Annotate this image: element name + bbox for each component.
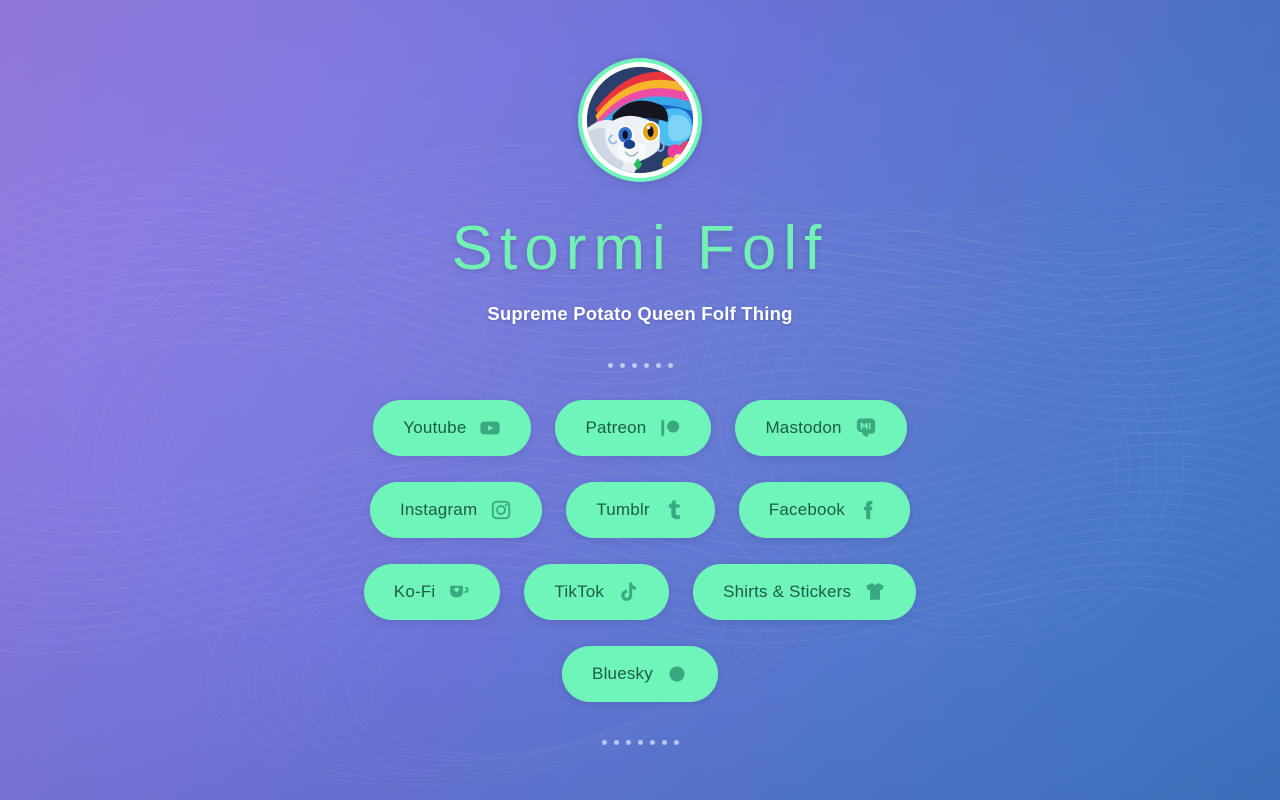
avatar-white-ring bbox=[582, 62, 698, 178]
divider-dot bbox=[656, 363, 661, 368]
divider-dot bbox=[620, 363, 625, 368]
mastodon-icon bbox=[855, 417, 877, 439]
tshirt-icon bbox=[864, 581, 886, 603]
link-button-label: Instagram bbox=[400, 500, 477, 520]
linktree-page: Stormi Folf Supreme Potato Queen Folf Th… bbox=[0, 0, 1280, 800]
link-button-label: Bluesky bbox=[592, 664, 653, 684]
divider-dot bbox=[614, 740, 619, 745]
instagram-icon bbox=[490, 499, 512, 521]
link-button-ko-fi[interactable]: Ko-Fi bbox=[364, 564, 501, 620]
avatar[interactable] bbox=[578, 58, 702, 182]
link-button-label: Patreon bbox=[585, 418, 646, 438]
link-button-label: Facebook bbox=[769, 500, 845, 520]
link-button-label: Ko-Fi bbox=[394, 582, 436, 602]
link-row: Bluesky bbox=[160, 646, 1120, 702]
tiktok-icon bbox=[617, 581, 639, 603]
link-row: InstagramTumblrFacebook bbox=[160, 482, 1120, 538]
link-row: YoutubePatreonMastodon bbox=[160, 400, 1120, 456]
divider-dot bbox=[668, 363, 673, 368]
avatar-image bbox=[587, 67, 693, 173]
link-button-label: Shirts & Stickers bbox=[723, 582, 851, 602]
bluesky-icon bbox=[666, 663, 688, 685]
link-row: Ko-FiTikTokShirts & Stickers bbox=[160, 564, 1120, 620]
divider-dots-bottom bbox=[602, 740, 679, 745]
link-button-youtube[interactable]: Youtube bbox=[373, 400, 531, 456]
divider-dot bbox=[650, 740, 655, 745]
link-button-mastodon[interactable]: Mastodon bbox=[735, 400, 906, 456]
link-button-label: Youtube bbox=[403, 418, 466, 438]
divider-dot bbox=[674, 740, 679, 745]
link-button-bluesky[interactable]: Bluesky bbox=[562, 646, 718, 702]
link-list: YoutubePatreonMastodonInstagramTumblrFac… bbox=[160, 400, 1120, 702]
divider-dot bbox=[602, 740, 607, 745]
divider-dot bbox=[632, 363, 637, 368]
link-button-label: Mastodon bbox=[765, 418, 841, 438]
tumblr-icon bbox=[663, 499, 685, 521]
link-button-label: TikTok bbox=[554, 582, 604, 602]
facebook-icon bbox=[858, 499, 880, 521]
divider-dots-top bbox=[608, 363, 673, 368]
divider-dot bbox=[608, 363, 613, 368]
link-button-shirts-stickers[interactable]: Shirts & Stickers bbox=[693, 564, 916, 620]
divider-dot bbox=[662, 740, 667, 745]
page-title: Stormi Folf bbox=[452, 216, 829, 281]
link-button-label: Tumblr bbox=[596, 500, 649, 520]
divider-dot bbox=[644, 363, 649, 368]
link-button-tumblr[interactable]: Tumblr bbox=[566, 482, 714, 538]
divider-dot bbox=[626, 740, 631, 745]
divider-dot bbox=[638, 740, 643, 745]
link-button-patreon[interactable]: Patreon bbox=[555, 400, 711, 456]
page-tagline: Supreme Potato Queen Folf Thing bbox=[487, 303, 792, 325]
patreon-icon bbox=[659, 417, 681, 439]
youtube-icon bbox=[479, 417, 501, 439]
kofi-icon bbox=[448, 581, 470, 603]
link-button-facebook[interactable]: Facebook bbox=[739, 482, 910, 538]
link-button-instagram[interactable]: Instagram bbox=[370, 482, 542, 538]
link-button-tiktok[interactable]: TikTok bbox=[524, 564, 669, 620]
